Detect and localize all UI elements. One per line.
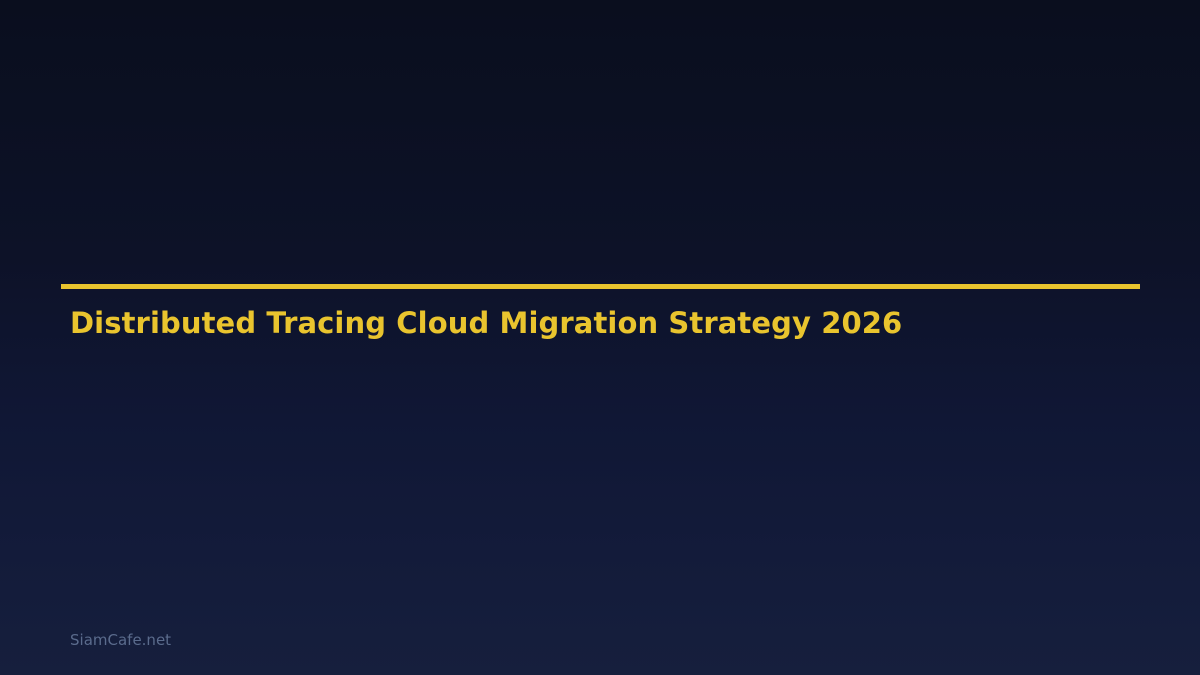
title-accent-rule: [61, 284, 1140, 289]
footer-watermark: SiamCafe.net: [70, 630, 171, 650]
footer: SiamCafe.net: [70, 630, 171, 650]
title-slide: Distributed Tracing Cloud Migration Stra…: [0, 0, 1200, 675]
page-title: Distributed Tracing Cloud Migration Stra…: [70, 303, 1140, 343]
title-block: Distributed Tracing Cloud Migration Stra…: [70, 303, 1140, 343]
